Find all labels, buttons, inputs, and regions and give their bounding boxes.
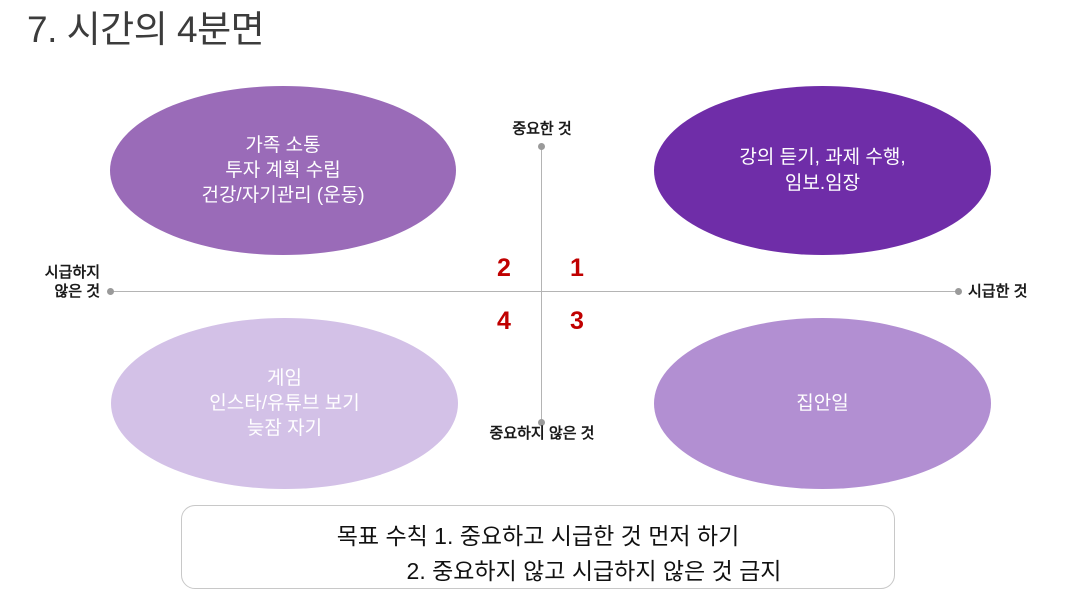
quadrant-number-1: 1 bbox=[570, 256, 584, 281]
slide-canvas: 7. 시간의 4분면 중요한 것 중요하지 않은 것 시급하지 않은 것 시급한… bbox=[0, 0, 1081, 608]
quadrant-number-4: 4 bbox=[497, 309, 511, 334]
quadrant-bubble-important-urgent: 강의 듣기, 과제 수행, 임보.임장 bbox=[654, 86, 991, 255]
goal-rule-1: 목표 수칙 1. 중요하고 시급한 것 먼저 하기 bbox=[182, 517, 894, 551]
quadrant-number-3: 3 bbox=[570, 309, 584, 334]
quadrant-number-2: 2 bbox=[497, 256, 511, 281]
horizontal-axis-line bbox=[110, 291, 958, 292]
axis-label-not-important: 중요하지 않은 것 bbox=[478, 425, 606, 444]
goal-rule-2: 2. 중요하지 않고 시급하지 않은 것 금지 bbox=[182, 552, 894, 586]
axis-label-not-urgent: 시급하지 않은 것 bbox=[36, 264, 100, 302]
axis-label-urgent: 시급한 것 bbox=[968, 283, 1027, 302]
axis-endpoint-dot-left bbox=[107, 288, 114, 295]
axis-label-important: 중요한 것 bbox=[500, 120, 584, 139]
quadrant-bubble-not-important-not-urgent: 게임 인스타/유튜브 보기 늦잠 자기 bbox=[111, 318, 458, 489]
quadrant-bubble-important-not-urgent: 가족 소통 투자 계획 수립 건강/자기관리 (운동) bbox=[110, 86, 456, 255]
axis-endpoint-dot-top bbox=[538, 143, 545, 150]
page-title: 7. 시간의 4분면 bbox=[27, 8, 264, 52]
axis-endpoint-dot-right bbox=[955, 288, 962, 295]
vertical-axis-line bbox=[541, 146, 542, 422]
quadrant-bubble-not-important-urgent: 집안일 bbox=[654, 318, 991, 489]
goal-rules-box: 목표 수칙 1. 중요하고 시급한 것 먼저 하기 2. 중요하지 않고 시급하… bbox=[181, 505, 895, 589]
